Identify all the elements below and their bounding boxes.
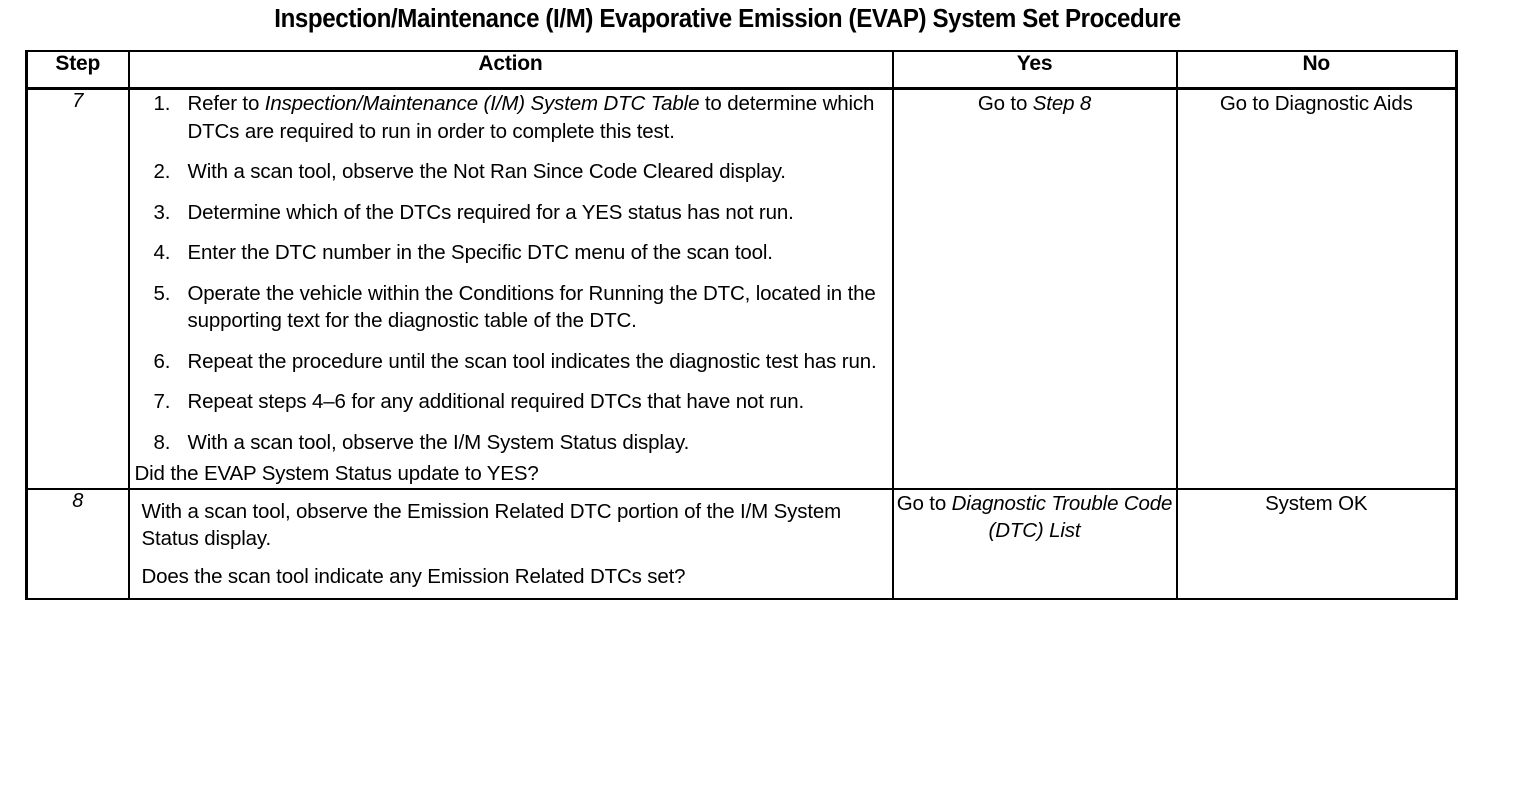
list-item-number: 3. [154,199,180,227]
list-item-text-italic: Inspection/Maintenance (I/M) System DTC … [265,92,700,115]
list-item: 2.With a scan tool, observe the Not Ran … [130,158,892,186]
list-item: 5.Operate the vehicle within the Conditi… [130,280,892,335]
action-paragraph: With a scan tool, observe the Emission R… [142,498,882,553]
no-text-pre: System OK [1265,492,1367,515]
list-item-number: 6. [154,348,180,376]
page-title: Inspection/Maintenance (I/M) Evaporative… [40,4,1415,34]
column-header-no: No [1177,51,1457,89]
list-item: 7.Repeat steps 4–6 for any additional re… [130,388,892,416]
list-item-number: 5. [154,280,180,308]
list-item: 6.Repeat the procedure until the scan to… [130,348,892,376]
no-text-pre: Go to Diagnostic Aids [1220,92,1413,115]
table-row: 8 With a scan tool, observe the Emission… [27,489,1457,600]
list-item: 3.Determine which of the DTCs required f… [130,199,892,227]
list-item: 1.Refer to Inspection/Maintenance (I/M) … [130,90,892,145]
column-header-step: Step [27,51,129,89]
list-item-text-pre: Repeat steps 4–6 for any additional requ… [188,390,805,413]
yes-text-pre: Go to [978,92,1033,115]
list-item: 8.With a scan tool, observe the I/M Syst… [130,429,892,457]
action-question: Did the EVAP System Status update to YES… [130,460,892,488]
table-row: 7 1.Refer to Inspection/Maintenance (I/M… [27,89,1457,489]
list-item-text-pre: Operate the vehicle within the Condition… [188,282,876,333]
action-cell-step-7: 1.Refer to Inspection/Maintenance (I/M) … [129,89,893,489]
list-item: 4.Enter the DTC number in the Specific D… [130,239,892,267]
list-item-text-pre: With a scan tool, observe the Not Ran Si… [188,160,786,183]
action-cell-step-8: With a scan tool, observe the Emission R… [129,489,893,600]
yes-cell-step-8: Go to Diagnostic Trouble Code (DTC) List [893,489,1177,600]
action-question: Does the scan tool indicate any Emission… [142,563,882,591]
column-header-action: Action [129,51,893,89]
list-item-number: 2. [154,158,180,186]
list-item-text-pre: Determine which of the DTCs required for… [188,201,794,224]
step-number: 7 [27,89,129,489]
no-cell-step-7: Go to Diagnostic Aids [1177,89,1457,489]
list-item-text-pre: With a scan tool, observe the I/M System… [188,431,690,454]
list-item-text-pre: Enter the DTC number in the Specific DTC… [188,241,773,264]
document-page: Inspection/Maintenance (I/M) Evaporative… [0,0,1520,792]
yes-text-pre: Go to [897,492,952,515]
list-item-number: 4. [154,239,180,267]
list-item-text-pre: Refer to [188,92,265,115]
table-header-row: Step Action Yes No [27,51,1457,89]
yes-text-italic: Diagnostic Trouble Code (DTC) List [952,492,1173,542]
procedure-table: Step Action Yes No 7 1.Refer to Inspecti… [25,50,1458,600]
list-item-number: 1. [154,90,180,118]
action-step-list: 1.Refer to Inspection/Maintenance (I/M) … [130,90,892,456]
list-item-number: 8. [154,429,180,457]
yes-text-italic: Step 8 [1033,92,1091,115]
step-number: 8 [27,489,129,600]
yes-cell-step-7: Go to Step 8 [893,89,1177,489]
list-item-number: 7. [154,388,180,416]
no-cell-step-8: System OK [1177,489,1457,600]
list-item-text-pre: Repeat the procedure until the scan tool… [188,350,877,373]
column-header-yes: Yes [893,51,1177,89]
